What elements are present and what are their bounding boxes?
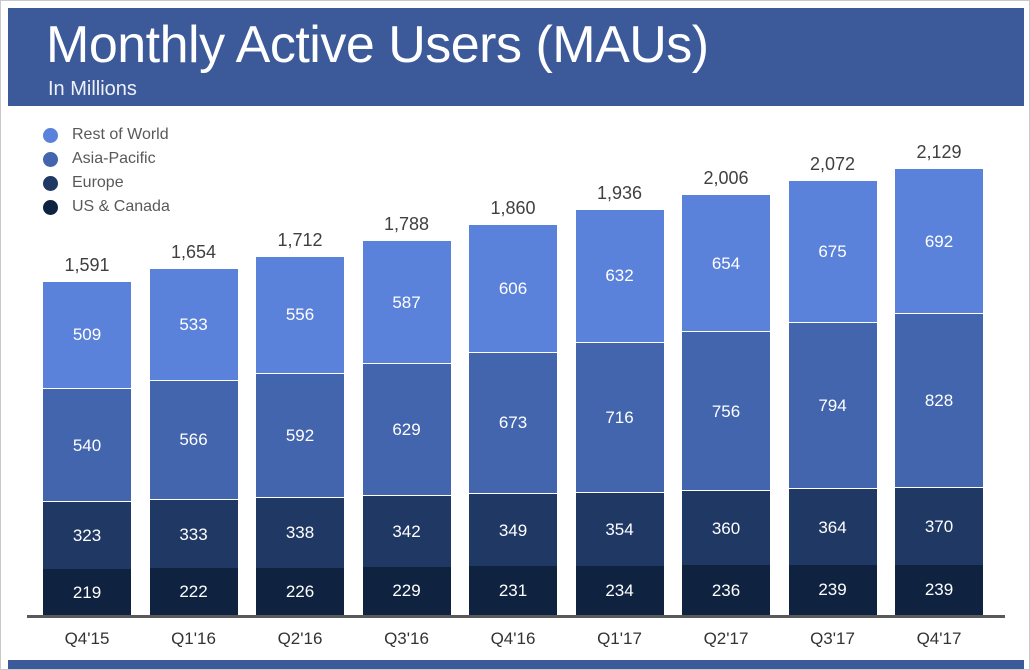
- bar-segment-value: 338: [286, 524, 314, 541]
- bar-segment[interactable]: 222: [150, 568, 238, 615]
- bar-segment[interactable]: 323: [43, 501, 131, 569]
- bar-segment-value: 222: [179, 583, 207, 600]
- bar-stack: 239370828692: [895, 168, 983, 615]
- bar-total-label: 1,936: [576, 183, 664, 204]
- bar-segment[interactable]: 236: [682, 565, 770, 615]
- bar-segment-value: 509: [73, 326, 101, 343]
- bar-segment[interactable]: 333: [150, 499, 238, 569]
- bar-segment[interactable]: 226: [256, 568, 344, 615]
- slide: Monthly Active Users (MAUs) In Millions …: [0, 0, 1030, 670]
- bar-segment[interactable]: 370: [895, 487, 983, 565]
- bar-segment-value: 692: [925, 233, 953, 250]
- x-axis-label: Q2'17: [682, 629, 770, 649]
- bar-group[interactable]: 2393647946752,072: [789, 180, 877, 615]
- legend-item[interactable]: US & Canada: [43, 195, 303, 219]
- x-axis-label: Q4'15: [43, 629, 131, 649]
- bar-segment[interactable]: 219: [43, 569, 131, 615]
- bar-stack: 239364794675: [789, 180, 877, 615]
- bar-segment-value: 342: [392, 523, 420, 540]
- header-band: Monthly Active Users (MAUs) In Millions: [8, 8, 1024, 106]
- bar-stack: 236360756654: [682, 194, 770, 615]
- bar-segment[interactable]: 692: [895, 168, 983, 313]
- legend-swatch-icon: [43, 200, 58, 215]
- bar-segment[interactable]: 654: [682, 194, 770, 331]
- bar-segment[interactable]: 231: [469, 566, 557, 615]
- bar-total-label: 1,591: [43, 255, 131, 276]
- bar-stack: 229342629587: [363, 240, 451, 615]
- bar-stack: 219323540509: [43, 281, 131, 615]
- bar-total-label: 2,072: [789, 154, 877, 175]
- bar-group[interactable]: 2223335665331,654: [150, 268, 238, 615]
- bar-total-label: 2,006: [682, 168, 770, 189]
- x-axis-line: [27, 615, 1005, 618]
- bar-segment-value: 756: [712, 403, 740, 420]
- legend-item[interactable]: Asia-Pacific: [43, 147, 303, 171]
- bar-segment-value: 828: [925, 392, 953, 409]
- legend-item[interactable]: Rest of World: [43, 123, 303, 147]
- bar-segment-value: 556: [286, 306, 314, 323]
- bar-segment-value: 364: [818, 519, 846, 536]
- bar-segment-value: 354: [605, 521, 633, 538]
- bar-segment-value: 566: [179, 431, 207, 448]
- bar-segment[interactable]: 587: [363, 240, 451, 363]
- bar-segment[interactable]: 349: [469, 493, 557, 566]
- x-axis-label: Q1'16: [150, 629, 238, 649]
- bar-segment[interactable]: 234: [576, 566, 664, 615]
- bar-segment-value: 533: [179, 316, 207, 333]
- bar-total-label: 1,654: [150, 242, 238, 263]
- footer-band: [8, 660, 1024, 669]
- bar-segment[interactable]: 540: [43, 388, 131, 501]
- x-axis-label: Q3'17: [789, 629, 877, 649]
- bar-segment[interactable]: 632: [576, 209, 664, 342]
- bar-segment[interactable]: 592: [256, 373, 344, 497]
- legend-swatch-icon: [43, 176, 58, 191]
- bar-segment[interactable]: 533: [150, 268, 238, 380]
- bar-segment-value: 226: [286, 583, 314, 600]
- bar-stack: 226338592556: [256, 256, 344, 615]
- bar-group[interactable]: 2393708286922,129: [895, 168, 983, 615]
- bar-total-label: 1,712: [256, 230, 344, 251]
- x-axis-label: Q2'16: [256, 629, 344, 649]
- bar-segment-value: 540: [73, 437, 101, 454]
- bar-segment-value: 629: [392, 421, 420, 438]
- bar-stack: 231349673606: [469, 224, 557, 615]
- bar-segment[interactable]: 354: [576, 492, 664, 566]
- bar-segment-value: 333: [179, 526, 207, 543]
- bar-segment[interactable]: 794: [789, 322, 877, 489]
- bar-group[interactable]: 2293426295871,788: [363, 240, 451, 615]
- bar-group[interactable]: 2363607566542,006: [682, 194, 770, 615]
- bar-segment-value: 219: [73, 584, 101, 601]
- bar-segment[interactable]: 360: [682, 490, 770, 566]
- bar-segment[interactable]: 675: [789, 180, 877, 322]
- bar-segment[interactable]: 716: [576, 342, 664, 492]
- bar-segment-value: 632: [605, 267, 633, 284]
- bar-segment-value: 592: [286, 427, 314, 444]
- bar-stack: 234354716632: [576, 209, 664, 615]
- bar-segment-value: 231: [499, 582, 527, 599]
- bar-segment-value: 673: [499, 414, 527, 431]
- bar-segment[interactable]: 509: [43, 281, 131, 388]
- bar-total-label: 1,860: [469, 198, 557, 219]
- bar-stack: 222333566533: [150, 268, 238, 615]
- x-axis-label: Q3'16: [363, 629, 451, 649]
- bar-segment-value: 606: [499, 280, 527, 297]
- bar-segment[interactable]: 606: [469, 224, 557, 351]
- bar-segment[interactable]: 338: [256, 497, 344, 568]
- x-axis-label: Q4'16: [469, 629, 557, 649]
- legend-swatch-icon: [43, 152, 58, 167]
- bar-group[interactable]: 2263385925561,712: [256, 256, 344, 615]
- bar-segment-value: 239: [818, 581, 846, 598]
- legend-item-label: Rest of World: [72, 126, 169, 144]
- bar-segment[interactable]: 342: [363, 495, 451, 567]
- bar-segment[interactable]: 239: [895, 565, 983, 615]
- page-title: Monthly Active Users (MAUs): [46, 16, 709, 74]
- legend-item-label: US & Canada: [72, 198, 170, 216]
- bar-total-label: 2,129: [895, 142, 983, 163]
- bar-segment[interactable]: 364: [789, 488, 877, 564]
- bar-segment[interactable]: 239: [789, 565, 877, 615]
- legend-item[interactable]: Europe: [43, 171, 303, 195]
- legend-item-label: Europe: [72, 174, 124, 192]
- bar-segment-value: 349: [499, 522, 527, 539]
- legend-swatch-icon: [43, 128, 58, 143]
- bar-group[interactable]: 2193235405091,591: [43, 281, 131, 615]
- bar-segment[interactable]: 629: [363, 363, 451, 495]
- bar-segment[interactable]: 556: [256, 256, 344, 373]
- chart-legend: Rest of WorldAsia-PacificEuropeUS & Cana…: [43, 123, 303, 219]
- x-axis-label: Q1'17: [576, 629, 664, 649]
- bar-total-label: 1,788: [363, 214, 451, 235]
- bar-group[interactable]: 2313496736061,860: [469, 224, 557, 615]
- bar-segment-value: 323: [73, 527, 101, 544]
- bar-segment[interactable]: 673: [469, 352, 557, 493]
- bar-segment-value: 236: [712, 582, 740, 599]
- bar-group[interactable]: 2343547166321,936: [576, 209, 664, 615]
- bar-segment[interactable]: 756: [682, 331, 770, 490]
- bar-segment-value: 675: [818, 243, 846, 260]
- bar-segment-value: 234: [605, 582, 633, 599]
- bar-segment-value: 370: [925, 518, 953, 535]
- bar-segment[interactable]: 828: [895, 313, 983, 487]
- bar-segment-value: 587: [392, 294, 420, 311]
- legend-item-label: Asia-Pacific: [72, 150, 156, 168]
- bar-segment-value: 239: [925, 581, 953, 598]
- bar-segment[interactable]: 229: [363, 567, 451, 615]
- page-subtitle: In Millions: [48, 78, 137, 101]
- x-axis-label: Q4'17: [895, 629, 983, 649]
- bar-segment-value: 654: [712, 255, 740, 272]
- bar-segment[interactable]: 566: [150, 380, 238, 499]
- bar-segment-value: 229: [392, 582, 420, 599]
- bar-segment-value: 716: [605, 409, 633, 426]
- bar-segment-value: 360: [712, 520, 740, 537]
- bar-segment-value: 794: [818, 397, 846, 414]
